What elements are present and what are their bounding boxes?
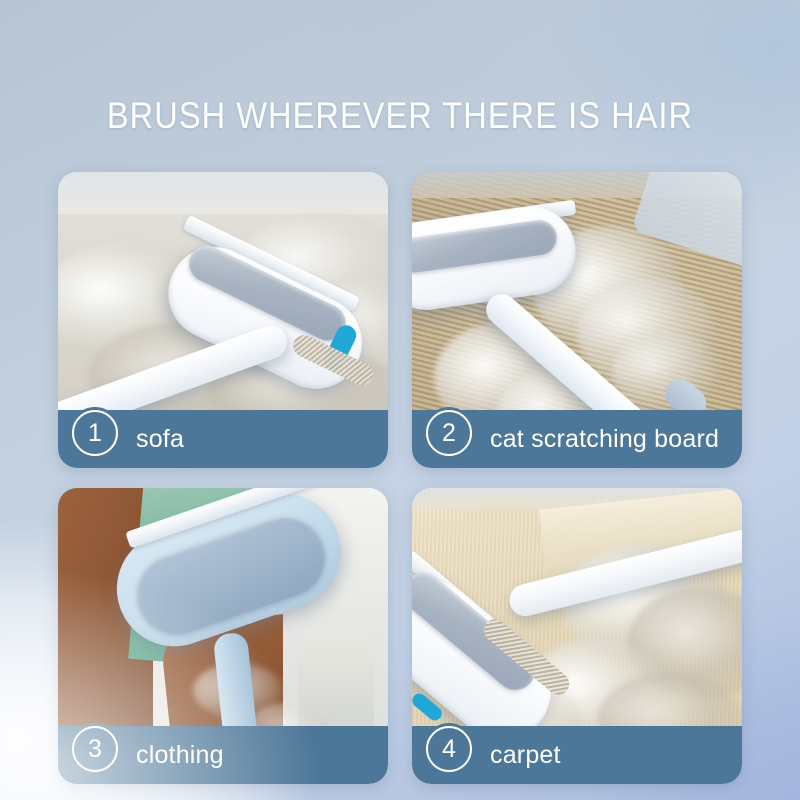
feature-card-grid: 1 sofa	[58, 172, 742, 784]
scene-backdrop	[58, 172, 388, 214]
feature-card-cat-scratching-board[interactable]: 2 cat scratching board	[412, 172, 742, 468]
card-number-badge: 2	[426, 410, 472, 456]
feature-card-sofa[interactable]: 1 sofa	[58, 172, 388, 468]
badge-number: 2	[426, 410, 472, 456]
card-number-badge: 1	[72, 410, 118, 456]
feature-card-carpet[interactable]: 4 carpet	[412, 488, 742, 784]
card-caption-label: carpet	[490, 741, 561, 770]
card-caption-label: cat scratching board	[490, 425, 719, 454]
card-caption-label: sofa	[136, 425, 184, 454]
card-number-badge: 4	[426, 726, 472, 772]
badge-number: 1	[72, 410, 118, 456]
card-caption-bar: 3 clothing	[58, 726, 388, 784]
card-number-badge: 3	[72, 726, 118, 772]
feature-card-clothing[interactable]: 3 clothing	[58, 488, 388, 784]
card-caption-bar: 1 sofa	[58, 410, 388, 468]
badge-number: 3	[72, 726, 118, 772]
badge-number: 4	[426, 726, 472, 772]
page-title: BRUSH WHEREVER THERE IS HAIR	[48, 94, 752, 138]
product-poster: BRUSH WHEREVER THERE IS HAIR	[0, 0, 800, 800]
card-caption-label: clothing	[136, 741, 224, 770]
card-caption-bar: 2 cat scratching board	[412, 410, 742, 468]
card-caption-bar: 4 carpet	[412, 726, 742, 784]
